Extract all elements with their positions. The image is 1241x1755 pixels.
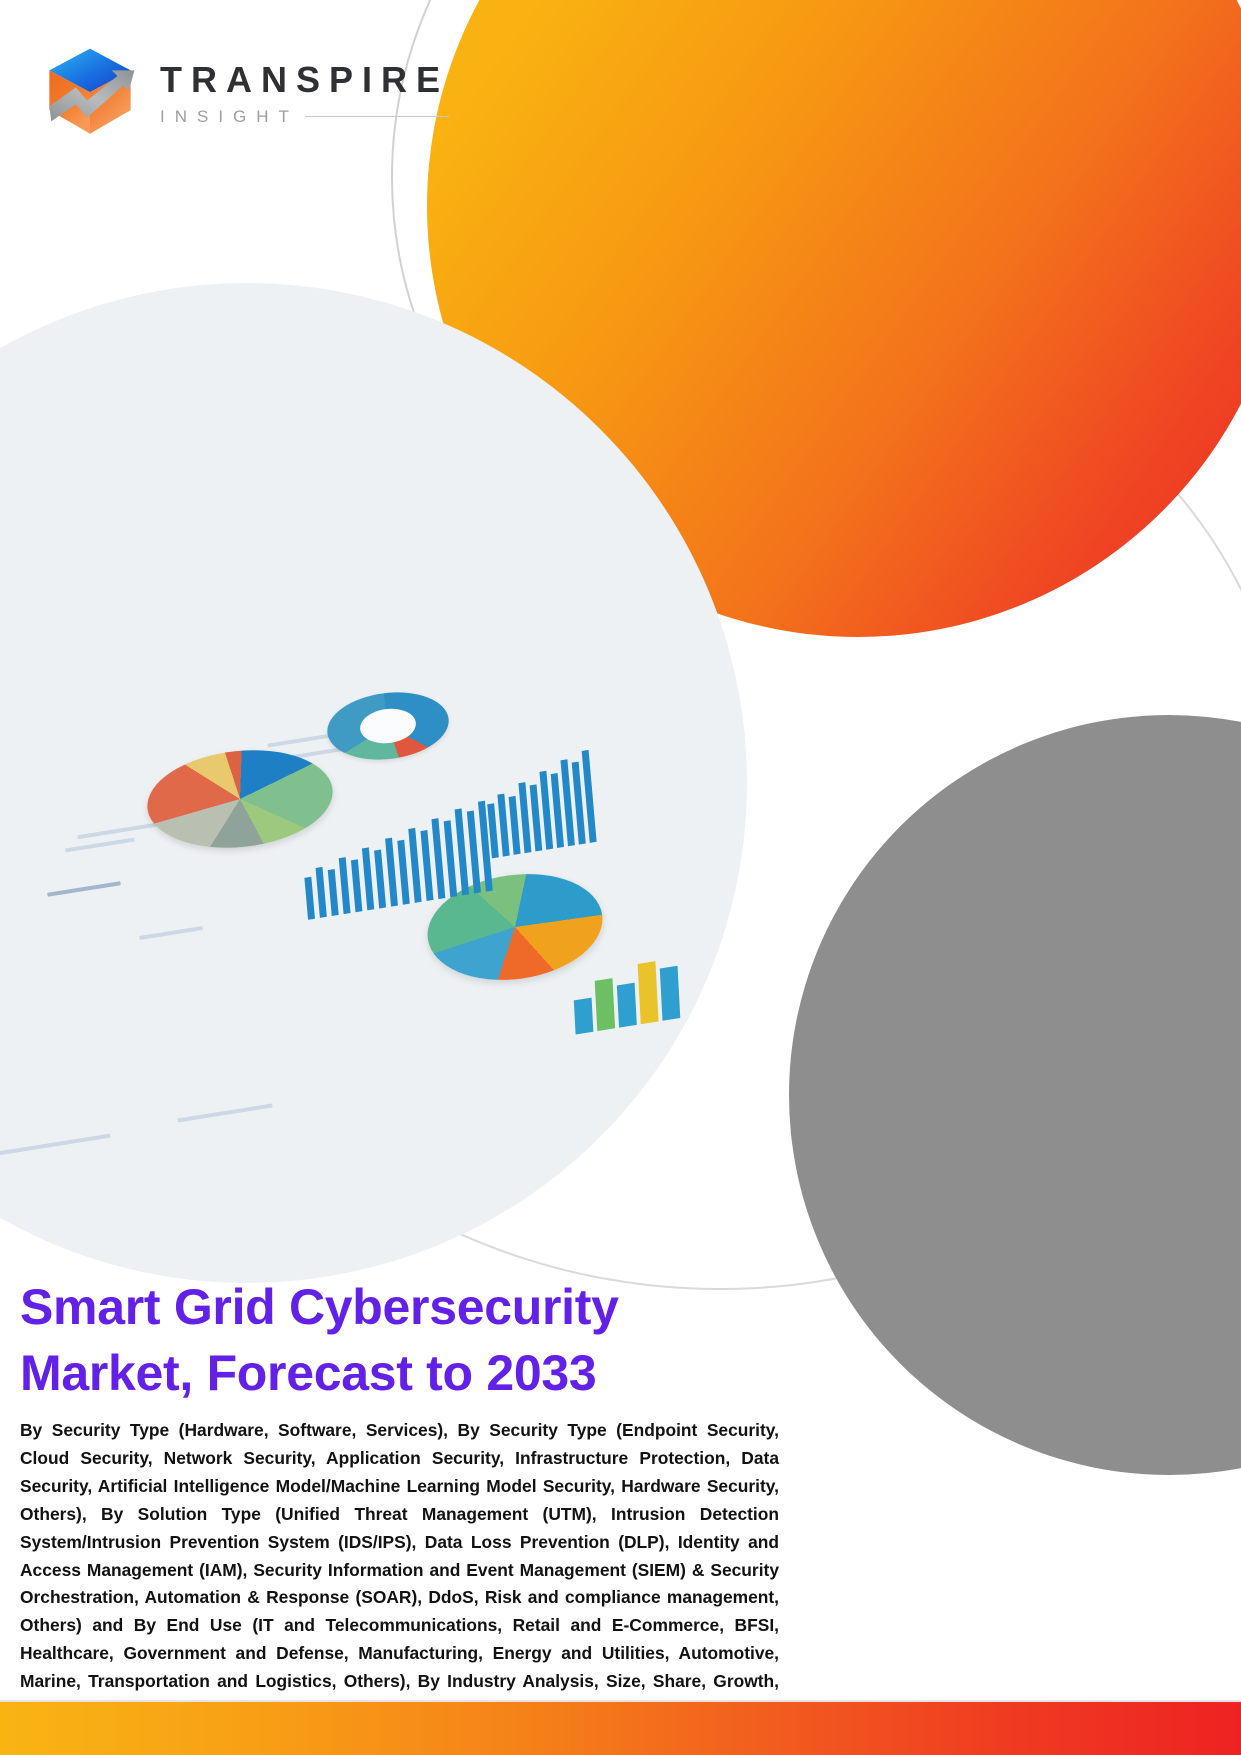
cover-photo-circle	[0, 283, 747, 1283]
gray-circle	[789, 715, 1241, 1475]
footer-hairline	[0, 1700, 1241, 1702]
brand-tagline-row: INSIGHT	[160, 107, 449, 127]
page-title: Smart Grid Cybersecurity Market, Forecas…	[20, 1274, 720, 1406]
cover-photo-image	[0, 283, 747, 1283]
footer-gradient-bar	[0, 1702, 1241, 1755]
photo-bar-chart-upper	[484, 744, 611, 859]
brand-logo[interactable]: TRANSPIRE INSIGHT	[38, 42, 449, 146]
page-title-line-1: Smart Grid Cybersecurity	[20, 1274, 720, 1340]
page-subtitle: By Security Type (Hardware, Software, Se…	[20, 1417, 779, 1723]
page-title-line-2: Market, Forecast to 2033	[20, 1340, 720, 1406]
brand-rule	[305, 116, 449, 117]
brand-name: TRANSPIRE	[160, 61, 449, 99]
brand-tagline: INSIGHT	[160, 107, 299, 127]
transpire-cube-arrow-logo-icon	[38, 42, 142, 146]
brand-wordmark: TRANSPIRE INSIGHT	[160, 61, 449, 127]
cover-page: TRANSPIRE INSIGHT Smart Grid Cybersecuri…	[0, 0, 1241, 1755]
